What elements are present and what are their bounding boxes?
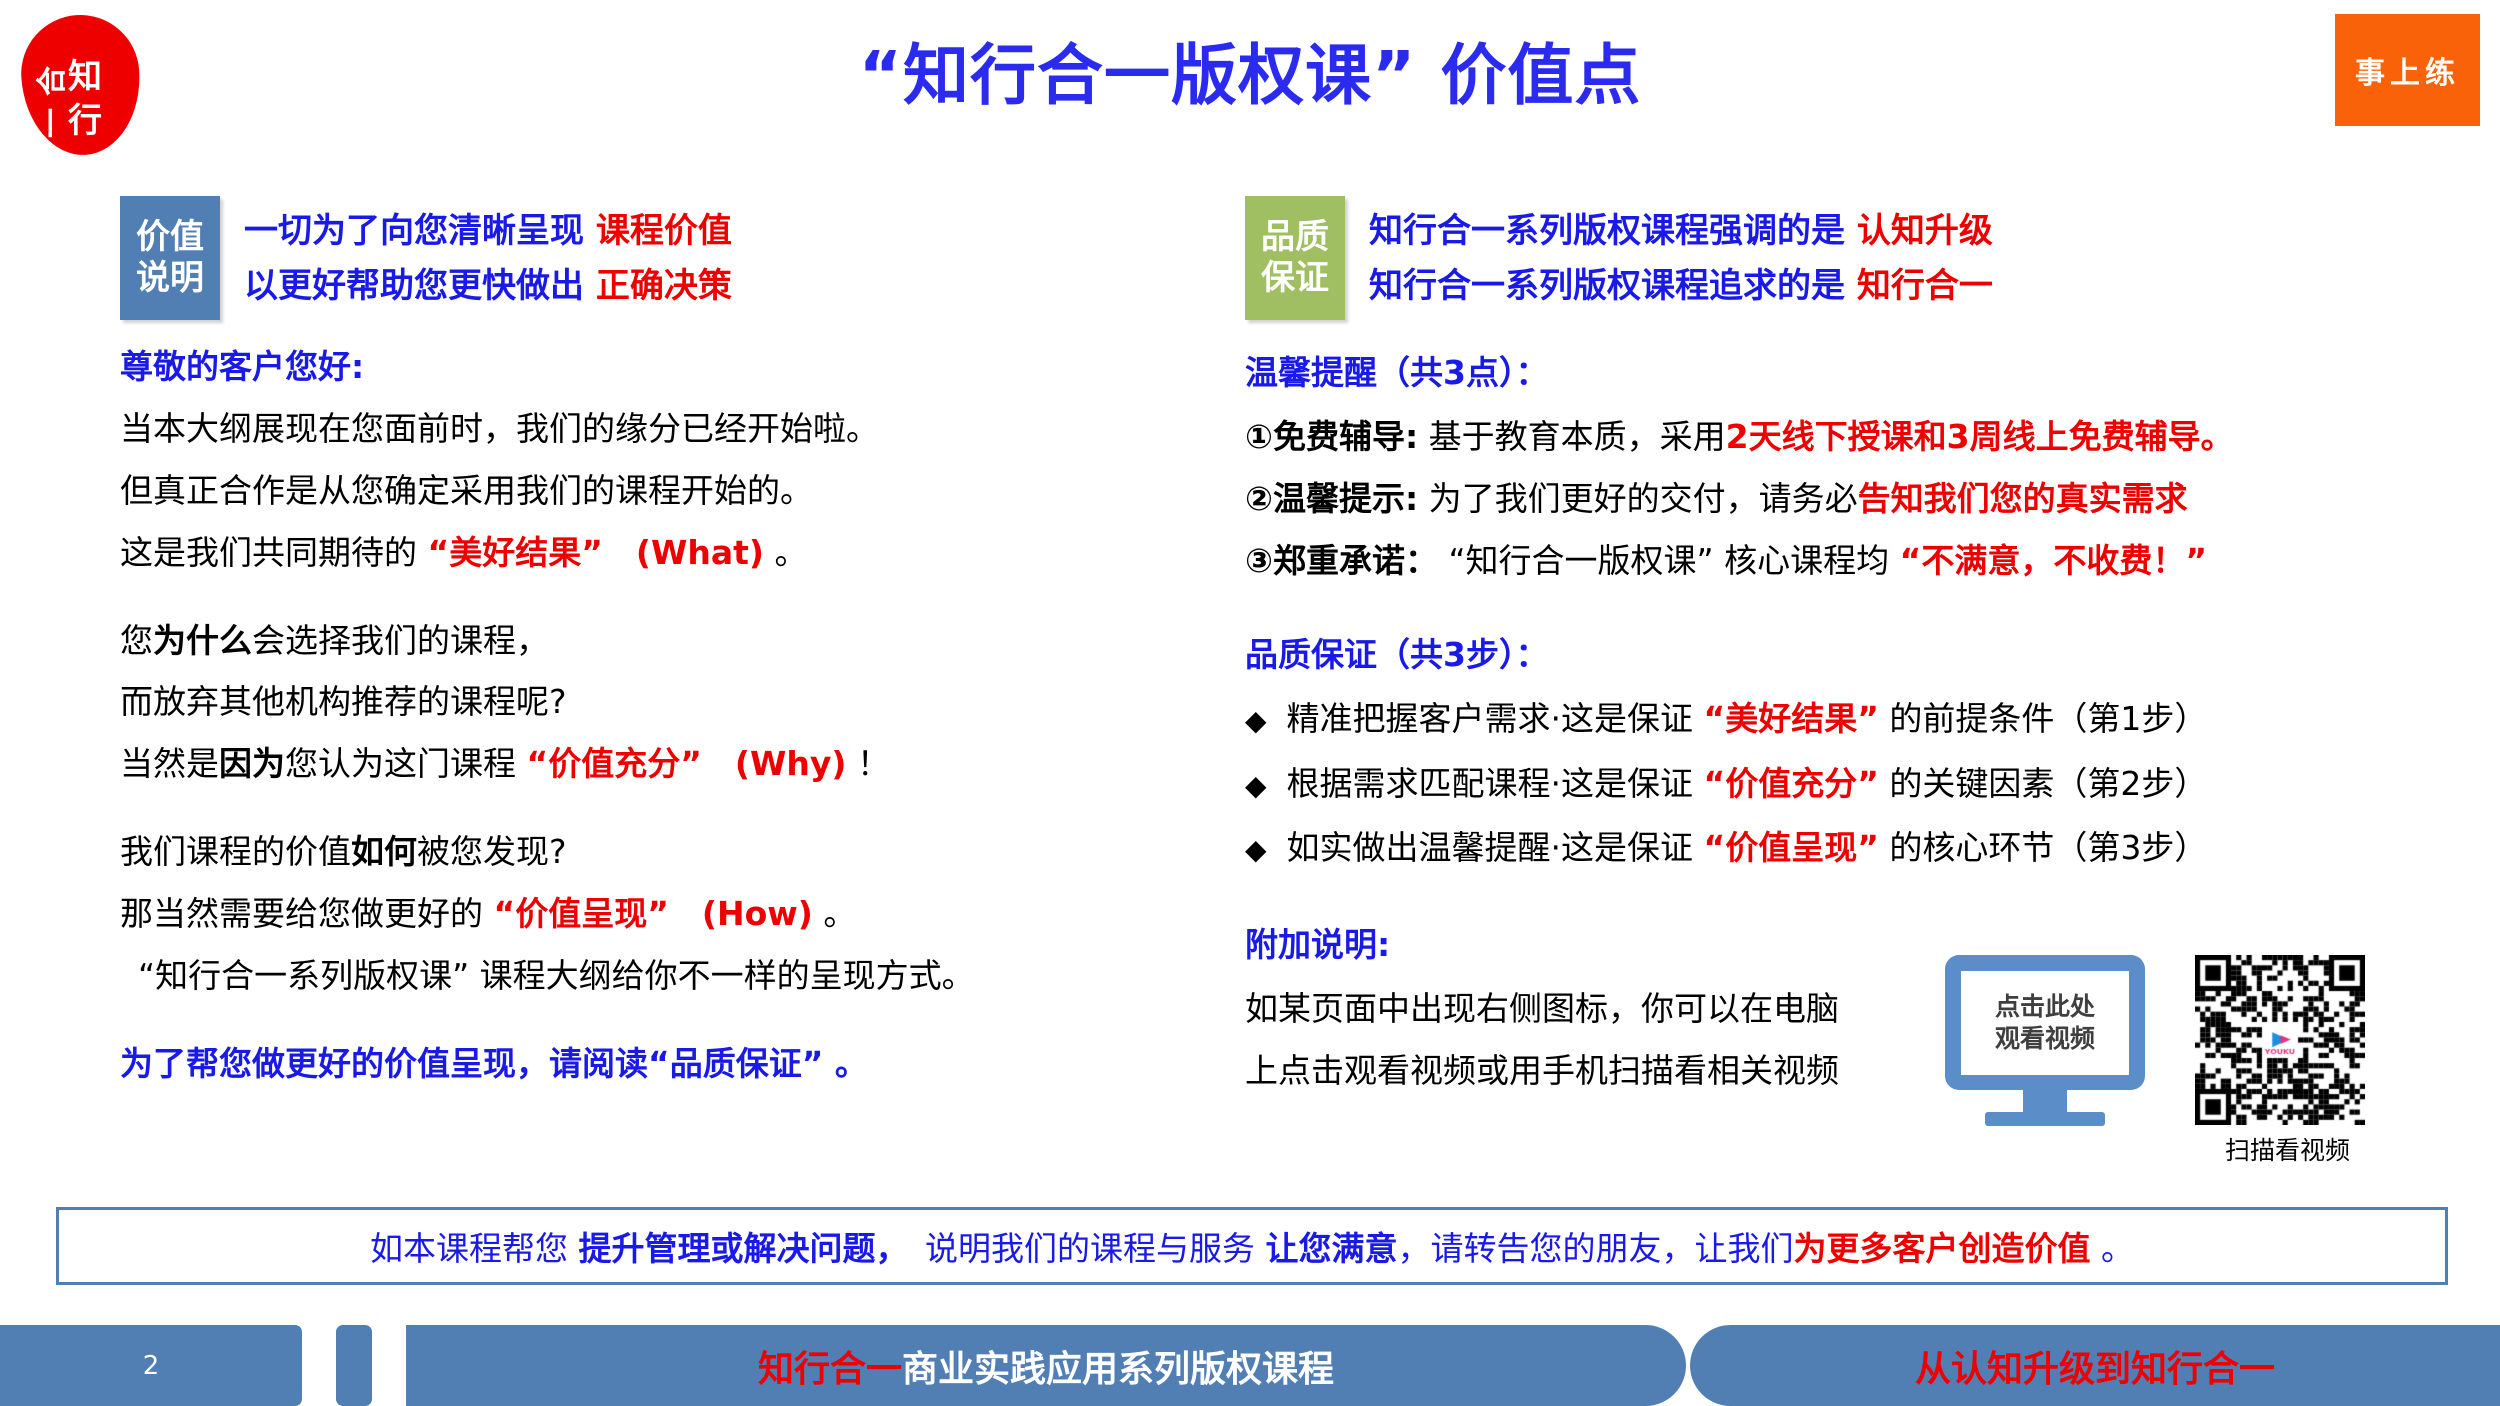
tip-2-normal: 为了我们更好的交付，请务必 [1418,479,1858,518]
right-header-line-2-normal: 知行合一系列版权课程追求的是 [1369,266,1857,306]
step-2-text: 根据需求匹配课程·这是保证 “价值充分” 的关键因素（第2步） [1287,763,2208,806]
chip-line-1: 价值 [136,217,204,258]
step-1-text: 精准把握客户需求·这是保证 “美好结果” 的前提条件（第1步） [1287,698,2208,741]
tip-3-normal: “知行合一版权课” 核心课程均 [1438,541,1900,580]
step-item-1: ◆ 精准把握客户需求·这是保证 “美好结果” 的前提条件（第1步） [1245,698,2485,741]
qr-canvas [2195,955,2365,1125]
step-3-red: “价值呈现” [1704,828,1879,867]
slide-root: 合 知 一 行 “知行合一版权课” 价值点 事上练 价值 说明 一切为了向您清晰… [0,0,2500,1406]
callout-bold-2: 让您满意 [1266,1229,1398,1268]
left-header-line-1-normal: 一切为了向您清晰呈现 [244,211,596,251]
left-column-header: 价值 说明 一切为了向您清晰呈现 课程价值 以更好帮助您更快做出 正确决策 [120,196,1200,320]
spacer-2 [120,805,1200,831]
tips-heading: 温馨提醒（共3点）： [1245,346,2485,394]
tip-item-3: ③郑重承诺： “知行合一版权课” 核心课程均 “不满意，不收费！” [1245,540,2485,583]
diamond-bullet-icon: ◆ [1245,703,1267,739]
para3-line2-red: “价值呈现” (How) [494,894,813,933]
para3-line1-pre: 我们课程的价值 [120,832,351,871]
right-header-line-1-normal: 知行合一系列版权课程强调的是 [1369,211,1857,251]
para1-line2: 但真正合作是从您确定采用我们的课程开始的。 [120,470,1200,513]
para2-line1-bold: 为什么 [153,621,252,660]
quality-guarantee-chip: 品质 保证 [1245,196,1345,320]
callout-red: 为更多客户创造价值 [1794,1229,2091,1268]
spacer-5 [1245,892,2485,918]
left-header-line-2: 以更好帮助您更快做出 正确决策 [244,259,732,314]
para3-line1-bold: 如何 [351,832,417,871]
footer-bar-primary-white: 商业实践应用系列版权课程 [902,1349,1334,1390]
monitor-frame: 点击此处 观看视频 [1945,955,2145,1090]
step-2-red: “价值充分” [1704,764,1879,803]
left-header-lines: 一切为了向您清晰呈现 课程价值 以更好帮助您更快做出 正确决策 [244,196,732,314]
para2-line1-post: 会选择我们的课程， [252,621,549,660]
tip-1-label: ①免费辅导: [1245,417,1418,456]
tip-2-red: 告知我们您的真实需求 [1858,479,2188,518]
closing-post: 。 [823,1044,868,1083]
para2-line3-bold: 因为 [219,744,285,783]
diamond-bullet-icon: ◆ [1245,768,1267,804]
monitor-neck [2023,1090,2067,1112]
para1-line3-pre: 这是我们共同期待的 [120,533,428,572]
para1-line3-red: “美好结果” (What) [428,533,764,572]
step-2-post: 的关键因素（第2步） [1879,764,2208,803]
para2-line3: 当然是因为您认为这门课程 “价值充分” (Why) ！ [120,743,1200,786]
monitor-base [1985,1112,2105,1126]
qr-code-icon [2195,955,2365,1125]
right-header-lines: 知行合一系列版权课程强调的是 认知升级 知行合一系列版权课程追求的是 知行合一 [1369,196,1993,314]
para3-line3: “知行合一系列版权课” 课程大纲给你不一样的呈现方式。 [120,955,1200,998]
step-2-pre: 根据需求匹配课程·这是保证 [1287,764,1704,803]
para2-line1-pre: 您 [120,621,153,660]
closing-pre: 为了帮您做更好的价值呈现，请阅读 [120,1044,648,1083]
right-header-line-2-highlight: 知行合一 [1857,266,1993,306]
step-3-pre: 如实做出温馨提醒·这是保证 [1287,828,1704,867]
quality-heading: 品质保证（共3步）： [1245,628,2485,676]
tip-2-label: ②温馨提示: [1245,479,1418,518]
para2-line3-red: “价值充分” (Why) [527,744,847,783]
closing-bold: “品质保证” [648,1044,823,1083]
right-header-line-1: 知行合一系列版权课程强调的是 认知升级 [1369,204,1993,259]
para3-line2-post: 。 [813,894,857,933]
watch-video-monitor-icon[interactable]: 点击此处 观看视频 [1945,955,2145,1125]
footer-bar-primary: 知行合一商业实践应用系列版权课程 [406,1325,1686,1406]
left-header-line-1-highlight: 课程价值 [596,211,732,251]
left-header-line-2-highlight: 正确决策 [596,266,732,306]
para1-line1: 当本大纲展现在您面前时，我们的缘分已经开始啦。 [120,408,1200,451]
bottom-callout-box: 如本课程帮您 提升管理或解决问题， 说明我们的课程与服务 让您满意，请转告您的朋… [56,1207,2448,1285]
footer-bar-primary-text: 知行合一商业实践应用系列版权课程 [758,1340,1334,1392]
step-1-red: “美好结果” [1704,699,1879,738]
step-1-post: 的前提条件（第1步） [1879,699,2208,738]
tip-1-normal: 基于教育本质，采用 [1418,417,1726,456]
left-header-line-1: 一切为了向您清晰呈现 课程价值 [244,204,732,259]
callout-mid-2: ，请转告您的朋友，让我们 [1398,1229,1794,1268]
callout-pre: 如本课程帮您 [370,1229,579,1268]
qr-caption: 扫描看视频 [2195,1131,2380,1167]
para2-line3-pre: 当然是 [120,744,219,783]
callout-text: 如本课程帮您 提升管理或解决问题， 说明我们的课程与服务 让您满意，请转告您的朋… [370,1222,2134,1270]
footer-separator-tick [336,1325,372,1406]
chip-line-2: 保证 [1261,258,1329,299]
para1-line3-post: 。 [764,533,808,572]
left-column-body: 尊敬的客户您好: 当本大纲展现在您面前时，我们的缘分已经开始啦。 但真正合作是从… [120,346,1200,1086]
page-number-box: 2 [0,1325,302,1406]
monitor-text-line-2: 观看视频 [1995,1023,2095,1054]
footer-bar-secondary-text: 从认知升级到知行合一 [1915,1340,2275,1392]
step-item-3: ◆ 如实做出温馨提醒·这是保证 “价值呈现” 的核心环节（第3步） [1245,827,2485,870]
left-closing-line: 为了帮您做更好的价值呈现，请阅读“品质保证” 。 [120,1043,1200,1086]
footer-bar: 2 知行合一商业实践应用系列版权课程 从认知升级到知行合一 [0,1325,2500,1406]
left-column: 价值 说明 一切为了向您清晰呈现 课程价值 以更好帮助您更快做出 正确决策 尊敬… [120,196,1200,1105]
step-1-pre: 精准把握客户需求·这是保证 [1287,699,1704,738]
para2-line2: 而放弃其他机构推荐的课程呢? [120,681,1200,724]
para2-line3-mid: 您认为这门课程 [285,744,527,783]
callout-mid-1: 说明我们的课程与服务 [892,1229,1266,1268]
footer-bar-primary-red: 知行合一 [758,1349,902,1390]
callout-bold-1: 提升管理或解决问题， [579,1229,893,1268]
tip-item-2: ②温馨提示: 为了我们更好的交付，请务必告知我们您的真实需求 [1245,478,2485,521]
value-explanation-chip: 价值 说明 [120,196,220,320]
diamond-bullet-icon: ◆ [1245,832,1267,868]
spacer-4 [1245,602,2485,628]
right-header-line-2: 知行合一系列版权课程追求的是 知行合一 [1369,259,1993,314]
step-3-text: 如实做出温馨提醒·这是保证 “价值呈现” 的核心环节（第3步） [1287,827,2208,870]
para3-line1-post: 被您发现? [417,832,567,871]
para3-line1: 我们课程的价值如何被您发现? [120,831,1200,874]
tip-3-red: “不满意，不收费！” [1900,541,2207,580]
right-column-header: 品质 保证 知行合一系列版权课程强调的是 认知升级 知行合一系列版权课程追求的是… [1245,196,2485,320]
step-item-2: ◆ 根据需求匹配课程·这是保证 “价值充分” 的关键因素（第2步） [1245,763,2485,806]
qr-code-block: 扫描看视频 [2195,955,2380,1167]
monitor-screen: 点击此处 观看视频 [1961,971,2129,1075]
step-3-post: 的核心环节（第3步） [1879,828,2208,867]
chip-line-2: 说明 [136,258,204,299]
tip-item-1: ①免费辅导: 基于教育本质，采用2天线下授课和3周线上免费辅导。 [1245,416,2485,459]
tip-1-red: 2天线下授课和3周线上免费辅导。 [1726,417,2234,456]
left-header-line-2-normal: 以更好帮助您更快做出 [244,266,596,306]
spacer-3 [120,1017,1200,1043]
para3-line2: 那当然需要给您做更好的 “价值呈现” (How) 。 [120,893,1200,936]
footer-bar-secondary: 从认知升级到知行合一 [1690,1325,2500,1406]
right-header-line-1-highlight: 认知升级 [1857,211,1993,251]
callout-post: 。 [2091,1229,2135,1268]
chip-line-1: 品质 [1261,217,1329,258]
customer-greeting: 尊敬的客户您好: [120,346,1200,389]
spacer-1 [120,594,1200,620]
page-title: “知行合一版权课” 价值点 [0,22,2500,118]
monitor-text-line-1: 点击此处 [1995,991,2095,1022]
para3-line2-pre: 那当然需要给您做更好的 [120,894,494,933]
brand-badge: 事上练 [2335,14,2480,126]
tip-3-label: ③郑重承诺： [1245,541,1438,580]
para2-line3-post: ！ [846,744,890,783]
para2-line1: 您为什么会选择我们的课程， [120,620,1200,663]
para1-line3: 这是我们共同期待的 “美好结果” (What) 。 [120,532,1200,575]
